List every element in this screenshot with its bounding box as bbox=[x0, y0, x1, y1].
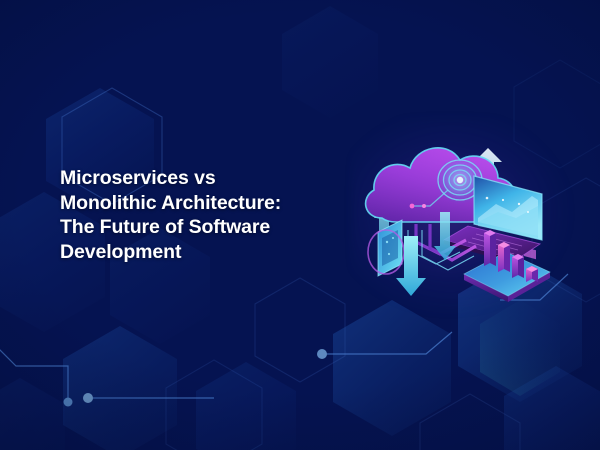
banner-card: Microservices vs Monolithic Architecture… bbox=[0, 0, 600, 450]
title-line-4: Development bbox=[60, 240, 360, 265]
page-title: Microservices vs Monolithic Architecture… bbox=[60, 166, 360, 264]
mobile-device bbox=[368, 220, 404, 276]
title-line-2: Monolithic Architecture: bbox=[60, 191, 360, 216]
title-line-3: The Future of Software bbox=[60, 215, 360, 240]
isometric-cloud-computing-illustration bbox=[356, 126, 556, 302]
title-line-1: Microservices vs bbox=[60, 166, 360, 191]
